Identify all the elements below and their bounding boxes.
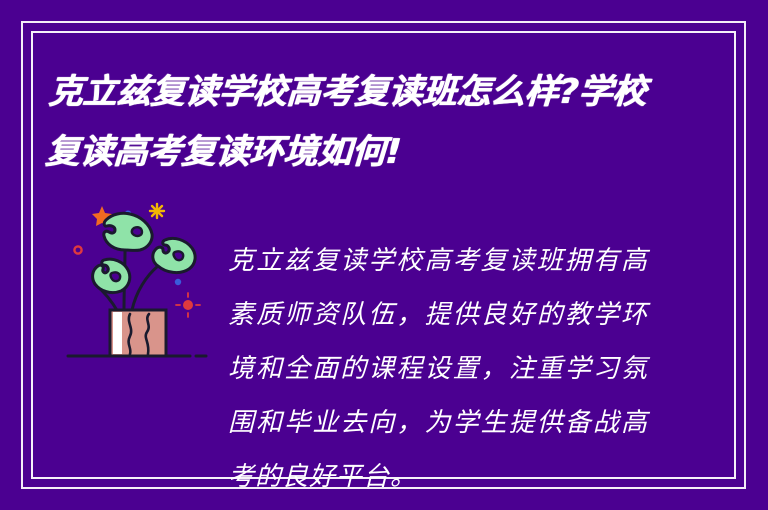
body-paragraph: 克立兹复读学校高考复读班拥有高素质师资队伍，提供良好的教学环境和全面的课程设置，… (228, 234, 648, 504)
red-flower-right-icon (176, 293, 200, 317)
page-title: 克立兹复读学校高考复读班怎么样?学校复读高考复读环境如何! (44, 62, 670, 182)
red-dot-left-icon (74, 246, 81, 253)
plant-leaf-right (153, 238, 195, 272)
plant-pot (110, 310, 166, 356)
plant-leaf-top (104, 213, 152, 250)
plant-leaf-left (93, 259, 130, 292)
potted-plant-illustration (62, 192, 212, 367)
poster-canvas: 克立兹复读学校高考复读班怎么样?学校复读高考复读环境如何! (0, 0, 768, 510)
blue-dot-right-icon (175, 279, 181, 285)
yellow-sparkle-icon (150, 204, 164, 218)
